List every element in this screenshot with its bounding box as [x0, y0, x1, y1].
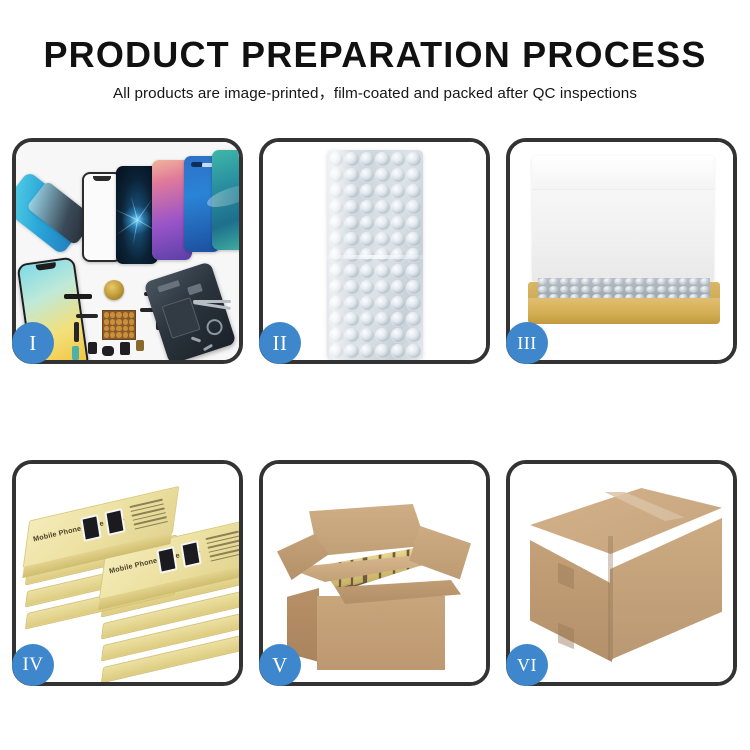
screw [104, 326, 109, 332]
screw [110, 332, 115, 338]
step-panel-2: II [259, 138, 490, 364]
plastic-sheen [327, 150, 352, 360]
bubble [646, 286, 656, 293]
screw [191, 336, 201, 342]
bubble [406, 200, 421, 215]
bubble [391, 264, 406, 279]
bubble [592, 278, 602, 285]
bubble [360, 232, 375, 247]
carton-flap-right [409, 526, 471, 584]
page-subtitle: All products are image-printed，film-coat… [0, 84, 750, 104]
bubble [406, 264, 421, 279]
bubble [391, 312, 406, 327]
bubble [603, 278, 613, 285]
bubble [360, 184, 375, 199]
loose-screws [191, 338, 221, 354]
bubble [360, 296, 375, 311]
earpiece-part [64, 294, 92, 299]
screw [116, 326, 121, 332]
bubble [581, 278, 591, 285]
bubble [406, 328, 421, 343]
page-header: PRODUCT PREPARATION PROCESS All products… [0, 34, 750, 104]
bubble [700, 278, 710, 285]
step-panel-3: III [506, 138, 737, 364]
bubble [391, 152, 406, 167]
bubble [375, 264, 390, 279]
bubble [391, 200, 406, 215]
bubble [375, 296, 390, 311]
stacked-boxes-scene: Mobile Phone Spare Parts Mobile Ph [16, 464, 239, 682]
bubble [570, 286, 580, 293]
step-panel-6: VI [506, 460, 737, 686]
open-shipping-carton [277, 504, 473, 670]
kraft-inner-box [528, 278, 720, 324]
bubble [391, 232, 406, 247]
bubble [375, 344, 390, 359]
small-component [120, 342, 130, 355]
box-product-image [180, 540, 201, 568]
bubble [592, 286, 602, 293]
retail-box-stack: Mobile Phone Spare Parts Mobile Ph [20, 478, 238, 674]
bubble [391, 280, 406, 295]
box-product-image [104, 508, 125, 536]
bubble [360, 328, 375, 343]
bubble [668, 286, 678, 293]
bubble [657, 286, 667, 293]
sealed-shipping-carton [530, 488, 722, 662]
screw [203, 344, 213, 352]
foam-lip [532, 156, 714, 190]
step-6-image [510, 464, 733, 682]
bubble [581, 286, 591, 293]
bubble [406, 312, 421, 327]
bubble [635, 286, 645, 293]
bubble [391, 216, 406, 231]
bubble [406, 232, 421, 247]
notch [93, 176, 111, 181]
bubble [538, 286, 548, 293]
phone-screen-teal [212, 150, 239, 250]
bubble [360, 152, 375, 167]
screw [123, 332, 128, 338]
step-4-image: Mobile Phone Spare Parts Mobile Ph [16, 464, 239, 682]
step-badge-3: III [506, 322, 548, 364]
bubble [360, 312, 375, 327]
step-panel-4: Mobile Phone Spare Parts Mobile Ph [12, 460, 243, 686]
bubble [360, 168, 375, 183]
bubble [570, 278, 580, 285]
small-component [88, 342, 97, 354]
step-5-image [263, 464, 486, 682]
flex-cable-part [76, 314, 98, 318]
carton-front-face [317, 596, 445, 670]
page-title: PRODUCT PREPARATION PROCESS [0, 34, 750, 76]
screw [110, 319, 115, 325]
bubble [391, 344, 406, 359]
bubble [360, 264, 375, 279]
bubble-wrap-pouch [327, 150, 423, 360]
bubble [360, 280, 375, 295]
bubble [406, 168, 421, 183]
step-badge-5: V [259, 644, 301, 686]
bubble [689, 278, 699, 285]
tweezers-tool [193, 290, 233, 324]
bubble [646, 278, 656, 285]
notch [36, 262, 57, 271]
bubble-wrap-scene [263, 142, 486, 360]
sealed-carton-scene [510, 464, 733, 682]
bubble [657, 278, 667, 285]
bubble [560, 278, 570, 285]
bubble [360, 200, 375, 215]
screw [129, 332, 134, 338]
screw [104, 312, 109, 318]
bubble [700, 286, 710, 293]
bubble [391, 296, 406, 311]
bubble [614, 278, 624, 285]
bubble [375, 168, 390, 183]
bubble [406, 184, 421, 199]
step-panel-1: I [12, 138, 243, 364]
kraft-box-foam-scene [510, 142, 733, 360]
screw [129, 326, 134, 332]
bubble [375, 312, 390, 327]
product-preparation-page: PRODUCT PREPARATION PROCESS All products… [0, 0, 750, 750]
bubble [375, 328, 390, 343]
bubble [406, 344, 421, 359]
products-scene [16, 142, 239, 360]
bubble [375, 216, 390, 231]
bubble [375, 280, 390, 295]
screw [123, 319, 128, 325]
bubble [603, 286, 613, 293]
screw [104, 332, 109, 338]
bubble [360, 216, 375, 231]
bubble [406, 152, 421, 167]
screw [110, 312, 115, 318]
bubble [614, 286, 624, 293]
screw [129, 319, 134, 325]
bubble [375, 200, 390, 215]
screw [104, 319, 109, 325]
screw [123, 326, 128, 332]
small-component [102, 346, 114, 356]
bubble [406, 216, 421, 231]
speaker-coil-part [104, 280, 124, 300]
bubble [360, 344, 375, 359]
bubble-wrapped-contents [538, 278, 710, 300]
step-2-image [263, 142, 486, 360]
box-front-panel [528, 298, 720, 324]
bubble [375, 184, 390, 199]
step-badge-6: VI [506, 644, 548, 686]
process-step-grid: I [12, 138, 738, 686]
screw [116, 332, 121, 338]
step-1-image [16, 142, 239, 360]
bubble [625, 278, 635, 285]
bubble [391, 184, 406, 199]
box-product-image [156, 546, 177, 574]
bubble [689, 286, 699, 293]
step-badge-1: I [12, 322, 54, 364]
screw [110, 326, 115, 332]
bubble [391, 328, 406, 343]
bubble [406, 280, 421, 295]
open-carton-scene [263, 464, 486, 682]
ic-chip [157, 280, 180, 293]
bubble [375, 152, 390, 167]
carton-corner-seam [608, 536, 613, 660]
small-component [72, 346, 79, 360]
bubble [549, 278, 559, 285]
bubble [560, 286, 570, 293]
step-badge-2: II [259, 322, 301, 364]
small-component [136, 340, 144, 351]
bubble [625, 286, 635, 293]
screw [123, 312, 128, 318]
bubble-grid [538, 278, 710, 300]
bubble [668, 278, 678, 285]
bubble [375, 232, 390, 247]
screw [116, 312, 121, 318]
bubble [635, 278, 645, 285]
white-foam-sheet [532, 156, 714, 282]
screw [129, 312, 134, 318]
bubble [549, 286, 559, 293]
bubble [538, 278, 548, 285]
step-badge-4: IV [12, 644, 54, 686]
bubble [406, 296, 421, 311]
screw [116, 319, 121, 325]
bubble [679, 278, 689, 285]
flex-cable-part [74, 322, 79, 342]
box-product-image [80, 514, 101, 542]
screw-tray-part [102, 310, 136, 340]
bubble [679, 286, 689, 293]
carton-flap-back [309, 504, 427, 556]
bubble [391, 168, 406, 183]
step-3-image [510, 142, 733, 360]
step-panel-5: V [259, 460, 490, 686]
